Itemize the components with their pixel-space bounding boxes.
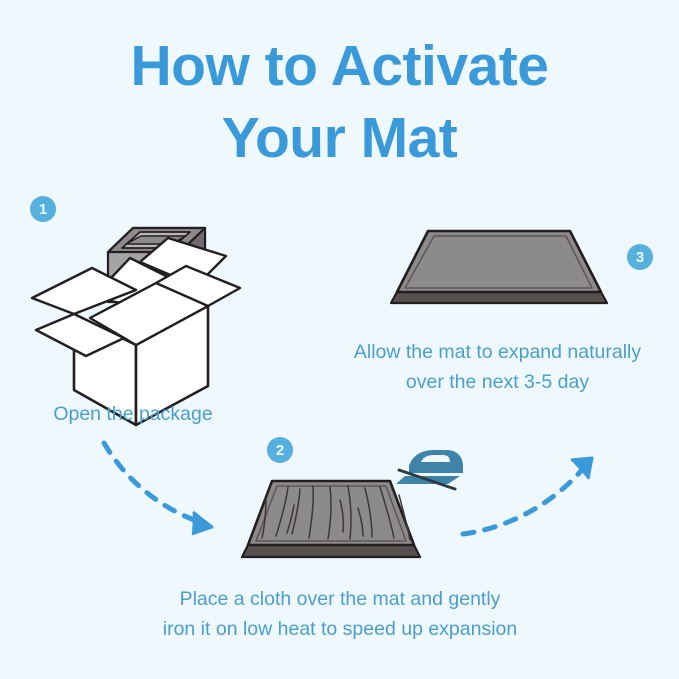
iron-icon — [396, 450, 463, 489]
step-2-caption-line-2: iron it on low heat to speed up expansio… — [75, 614, 605, 644]
page-title-line-2: Your Mat — [0, 102, 679, 174]
step-2-caption: Place a cloth over the mat and gently ir… — [75, 584, 605, 644]
step-badge-2: 2 — [267, 437, 293, 463]
page-title-line-1: How to Activate — [0, 30, 679, 102]
step-badge-3: 3 — [627, 244, 653, 270]
page-title: How to Activate Your Mat — [0, 30, 679, 175]
arrow-step2-to-step3 — [463, 458, 592, 534]
mat-with-cloth-icon — [242, 481, 420, 557]
step-3-caption: Allow the mat to expand naturally over t… — [316, 337, 679, 397]
step-badge-1: 1 — [30, 196, 56, 222]
infographic-canvas: How to Activate Your Mat — [0, 0, 679, 679]
step-2-caption-line-1: Place a cloth over the mat and gently — [75, 584, 605, 614]
flat-mat-icon — [391, 231, 607, 303]
step-1-caption-line-1: Open the package — [0, 399, 266, 429]
step-3-caption-line-1: Allow the mat to expand naturally — [316, 337, 679, 367]
step-1-caption: Open the package — [0, 399, 266, 429]
open-box-icon — [32, 228, 240, 425]
arrow-step1-to-step2 — [104, 443, 212, 534]
step-3-caption-line-2: over the next 3-5 day — [316, 367, 679, 397]
